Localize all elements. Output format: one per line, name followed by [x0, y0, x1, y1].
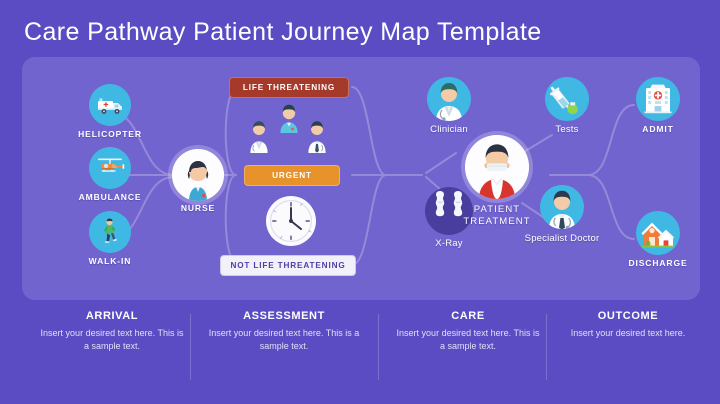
syringe-test-icon: [545, 77, 589, 121]
caption-heading: ASSESSMENT: [208, 310, 360, 322]
caption-heading: ARRIVAL: [38, 310, 186, 322]
caption-heading: CARE: [394, 310, 542, 322]
home-discharge-icon: [636, 211, 680, 255]
caption-body: Insert your desired text here. This is a…: [208, 327, 360, 353]
diagram-panel: HELICOPTER AMBULANCE: [22, 57, 700, 300]
caption-divider: [190, 314, 191, 380]
badge-life-threatening[interactable]: LIFE THREATENING: [229, 77, 349, 98]
node-patient-treatment[interactable]: PATIENT TREATMENT: [450, 135, 544, 228]
page-title: Care Pathway Patient Journey Map Templat…: [24, 18, 542, 47]
helicopter-icon: [89, 147, 131, 189]
caption-divider: [546, 314, 547, 380]
caption-body: Insert your desired text here.: [566, 327, 690, 340]
caption-care: CARE Insert your desired text here. This…: [394, 310, 542, 353]
caption-divider: [378, 314, 379, 380]
node-label: AMBULANCE: [62, 193, 158, 203]
patient-treatment-avatar-icon: [465, 135, 529, 199]
node-label: X-Ray: [405, 239, 493, 250]
caption-assessment: ASSESSMENT Insert your desired text here…: [208, 310, 360, 353]
caption-body: Insert your desired text here. This is a…: [38, 327, 186, 353]
node-clinician[interactable]: Clinician: [410, 77, 488, 136]
node-label: Specialist Doctor: [520, 233, 604, 244]
hospital-building-icon: [636, 77, 680, 121]
nurse-avatar-icon: [172, 149, 224, 201]
caption-outcome: OUTCOME Insert your desired text here.: [566, 310, 690, 340]
node-label: WALK-IN: [62, 257, 158, 267]
badge-urgent[interactable]: URGENT: [244, 165, 340, 186]
specialist-doctor-avatar-icon: [540, 185, 584, 229]
clinician-avatar-icon: [427, 77, 471, 121]
node-helicopter[interactable]: HELICOPTER: [62, 84, 158, 140]
slide-canvas: Care Pathway Patient Journey Map Templat…: [0, 0, 720, 404]
badge-not-life-threatening[interactable]: NOT LIFE THREATENING: [220, 255, 356, 276]
node-label: DISCHARGE: [610, 259, 706, 269]
node-walk-in[interactable]: WALK-IN: [62, 211, 158, 267]
caption-arrival: ARRIVAL Insert your desired text here. T…: [38, 310, 186, 353]
node-discharge[interactable]: DISCHARGE: [610, 211, 706, 269]
node-tests[interactable]: Tests: [528, 77, 606, 136]
node-label: NURSE: [162, 204, 234, 214]
node-admit[interactable]: ADMIT: [610, 77, 706, 135]
node-ambulance[interactable]: AMBULANCE: [62, 147, 158, 203]
caption-body: Insert your desired text here. This is a…: [394, 327, 542, 353]
node-label: PATIENT TREATMENT: [450, 204, 544, 228]
caption-heading: OUTCOME: [566, 310, 690, 322]
ambulance-icon: [89, 84, 131, 126]
node-label: HELICOPTER: [62, 130, 158, 140]
walking-person-icon: [89, 211, 131, 253]
node-label: ADMIT: [610, 125, 706, 135]
caption-row: ARRIVAL Insert your desired text here. T…: [22, 310, 700, 396]
clock-icon: [263, 193, 319, 249]
medical-staff-group-icon: [246, 103, 332, 153]
node-nurse[interactable]: NURSE: [162, 149, 234, 214]
